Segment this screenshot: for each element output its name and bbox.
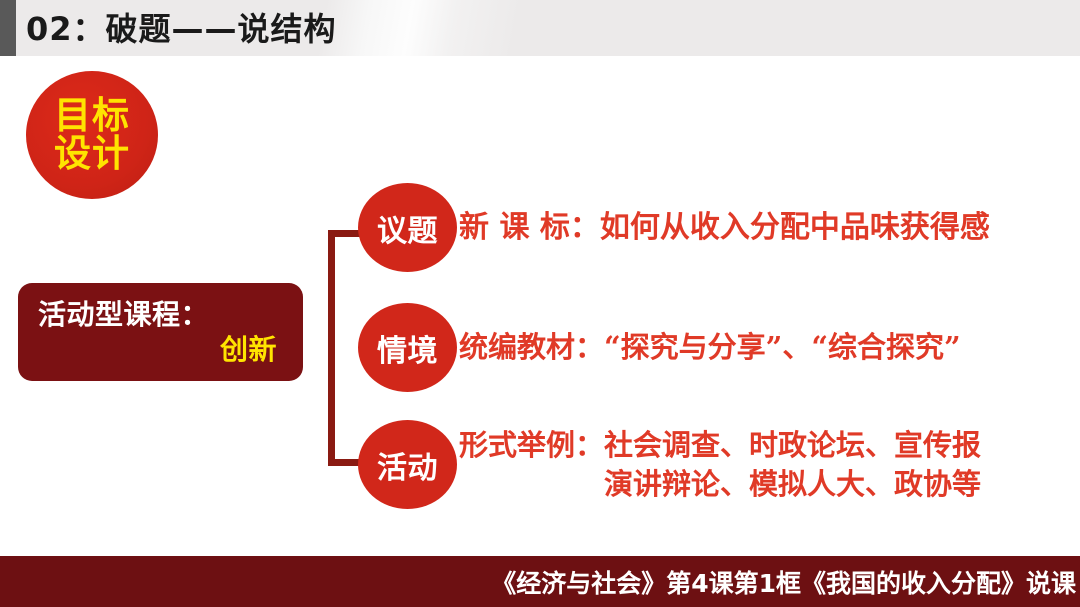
activity-description: 形式举例：社会调查、时政论坛、宣传报 演讲辩论、模拟人大、政协等 <box>459 426 981 503</box>
goal-badge-line-2: 设计 <box>54 135 130 173</box>
header-accent-bar <box>0 0 16 56</box>
page-title: 02：破题——说结构 <box>26 4 337 50</box>
activity-description-line-2: 演讲辩论、模拟人大、政协等 <box>459 465 981 503</box>
goal-design-badge: 目标 设计 <box>26 71 158 199</box>
topic-description: 新 课 标：如何从收入分配中品味获得感 <box>459 208 990 248</box>
row-activity: 活动 形式举例：社会调查、时政论坛、宣传报 演讲辩论、模拟人大、政协等 <box>358 420 981 509</box>
activity-circle: 活动 <box>358 420 457 509</box>
row-topic: 议题 新 课 标：如何从收入分配中品味获得感 <box>358 183 990 272</box>
activity-circle-label: 活动 <box>377 443 438 487</box>
activity-course-box: 活动型课程： 创新 <box>18 283 303 381</box>
slide-header: 02：破题——说结构 <box>0 0 1080 56</box>
row-context: 情境 统编教材：“探究与分享”、“综合探究” <box>358 303 961 392</box>
goal-badge-line-1: 目标 <box>54 97 130 135</box>
slide-footer: 《经济与社会》第4课第1框《我国的收入分配》说课 <box>0 556 1080 607</box>
context-circle-label: 情境 <box>377 326 438 370</box>
topic-circle-label: 议题 <box>377 206 438 250</box>
context-circle: 情境 <box>358 303 457 392</box>
footer-caption: 《经济与社会》第4课第1框《我国的收入分配》说课 <box>491 564 1080 600</box>
course-box-highlight: 创新 <box>38 332 289 367</box>
bracket-connector <box>328 230 362 466</box>
context-description: 统编教材：“探究与分享”、“综合探究” <box>459 328 961 366</box>
course-box-title: 活动型课程： <box>38 297 289 332</box>
topic-circle: 议题 <box>358 183 457 272</box>
activity-description-line-1: 形式举例：社会调查、时政论坛、宣传报 <box>459 426 981 464</box>
